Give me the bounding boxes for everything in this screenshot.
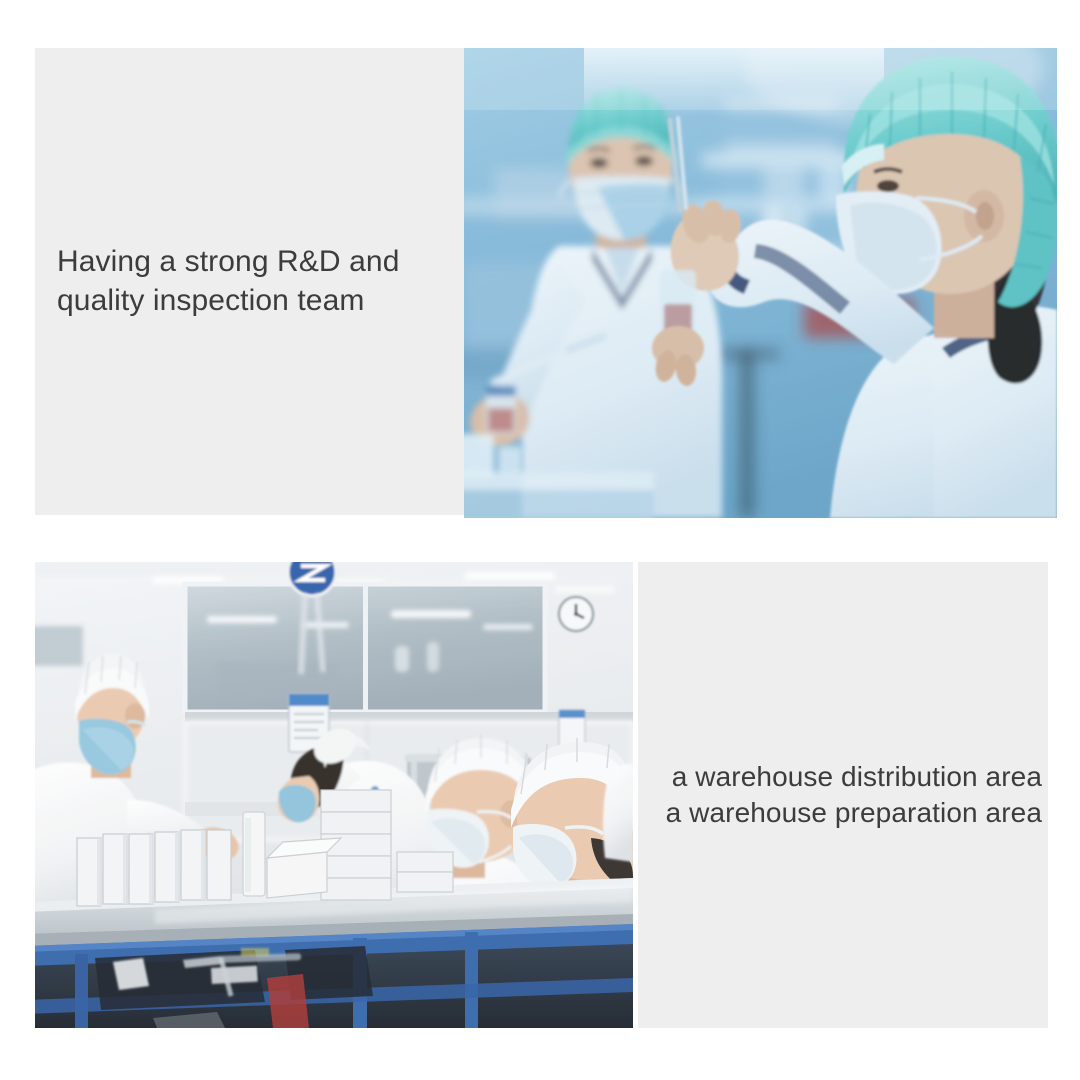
top-light-wash bbox=[464, 48, 1057, 110]
blue-color-cast bbox=[464, 48, 1057, 518]
rnd-caption-text: Having a strong R&D and quality inspecti… bbox=[35, 243, 409, 320]
warehouse-photo-illustration bbox=[35, 562, 633, 1028]
warehouse-caption-text: a warehouse distribution area a warehous… bbox=[658, 759, 1048, 832]
light-wash bbox=[35, 562, 633, 1028]
lab-inspection-photo bbox=[464, 48, 1057, 518]
warehouse-packing-photo bbox=[35, 562, 633, 1028]
rnd-caption-panel: Having a strong R&D and quality inspecti… bbox=[35, 48, 465, 515]
lab-photo-illustration bbox=[464, 48, 1057, 518]
warehouse-caption-panel: a warehouse distribution area a warehous… bbox=[638, 562, 1048, 1028]
page-root: Having a strong R&D and quality inspecti… bbox=[0, 0, 1080, 1080]
